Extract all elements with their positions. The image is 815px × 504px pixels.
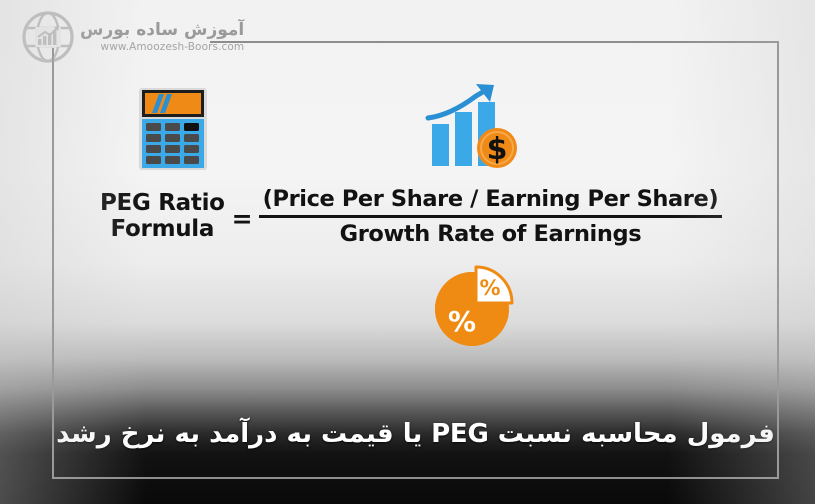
brand-logo-text: آموزش ساده بورس www.Amoozesh-Boors.com: [80, 22, 244, 53]
brand-name-fa: آموزش ساده بورس: [80, 22, 244, 39]
svg-text:%: %: [448, 305, 476, 338]
svg-text:$: $: [487, 132, 508, 167]
peg-ratio-formula: PEG Ratio Formula = (Price Per Share / E…: [100, 180, 720, 252]
percent-pie-chart-icon: % %: [430, 265, 520, 347]
growth-bar-chart-icon: $: [424, 82, 520, 170]
formula-fraction: (Price Per Share / Earning Per Share) Gr…: [259, 186, 723, 247]
calculator-icon: [139, 88, 207, 170]
brand-url: www.Amoozesh-Boors.com: [101, 42, 245, 53]
formula-label-line1: PEG Ratio: [100, 190, 225, 216]
svg-text:%: %: [479, 276, 500, 300]
formula-label-line2: Formula: [100, 216, 225, 242]
slide-canvas: آموزش ساده بورس www.Amoozesh-Boors.com: [0, 0, 815, 504]
formula-label: PEG Ratio Formula: [100, 190, 225, 242]
formula-denominator: Growth Rate of Earnings: [340, 218, 642, 247]
brand-logo: آموزش ساده بورس www.Amoozesh-Boors.com: [22, 8, 212, 66]
formula-numerator: (Price Per Share / Earning Per Share): [259, 186, 723, 215]
caption-text: فرمول محاسبه نسبت PEG یا قیمت به درآمد ب…: [52, 408, 779, 460]
equals-sign: =: [232, 204, 253, 233]
globe-chart-icon: [22, 11, 74, 63]
